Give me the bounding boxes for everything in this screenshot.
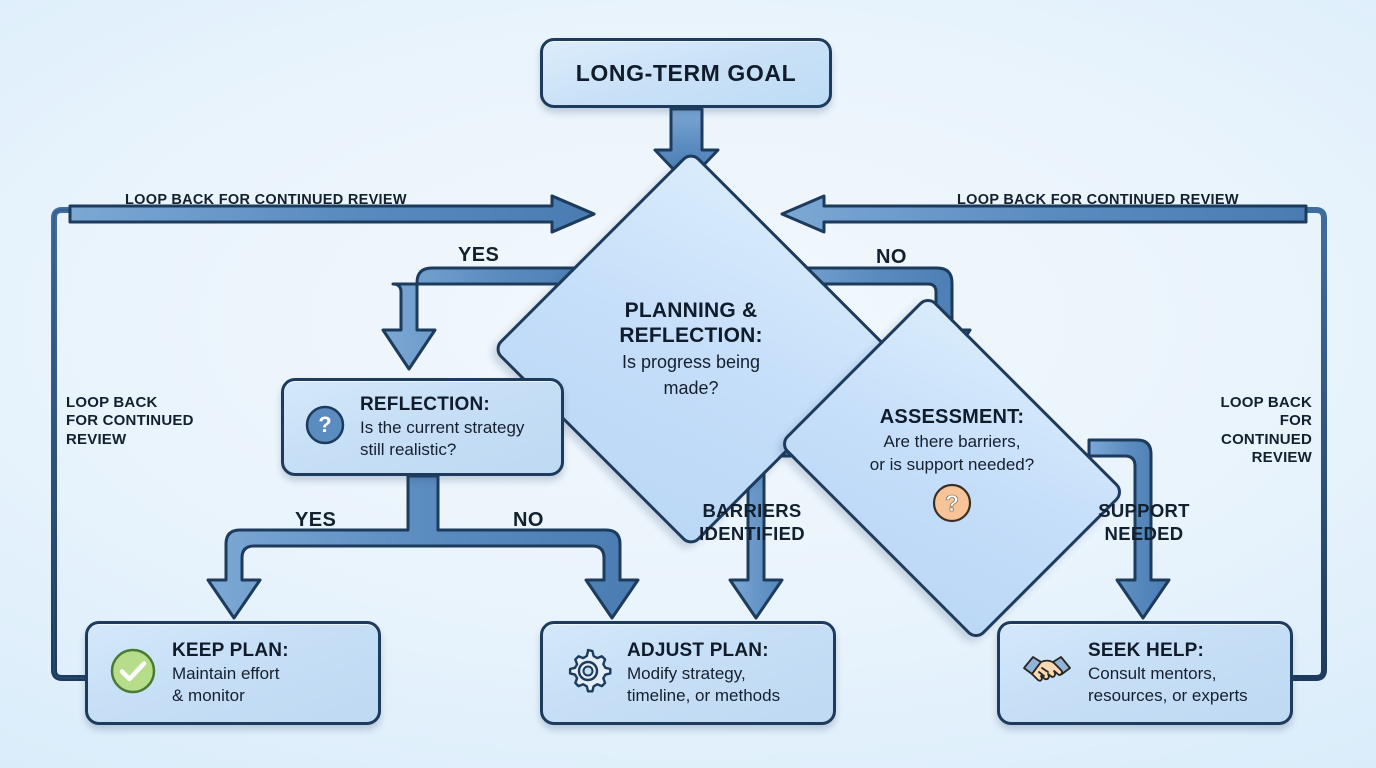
node-adjust-plan-title: ADJUST PLAN: [627, 639, 780, 663]
node-seek-help-sub-line1: Consult mentors, [1088, 663, 1248, 685]
node-assessment-sub-line2: or is support needed? [870, 454, 1034, 475]
handshake-icon [1020, 646, 1074, 701]
edge-label-yes-reflection: YES [295, 508, 336, 532]
flowchart-canvas: LONG-TERM GOAL PLANNING & REFLECTION: Is… [0, 0, 1376, 768]
node-planning-title-line2: REFLECTION: [619, 324, 762, 349]
edge-label-no-planning: NO [876, 245, 907, 269]
node-long-term-goal-title: LONG-TERM GOAL [576, 60, 797, 87]
node-assessment[interactable]: ASSESSMENT: Are there barriers, or is su… [812, 362, 1092, 574]
svg-text:?: ? [945, 490, 959, 516]
node-keep-plan[interactable]: KEEP PLAN: Maintain effort & monitor [85, 621, 381, 725]
node-keep-plan-sub-line1: Maintain effort [172, 663, 289, 685]
node-seek-help[interactable]: SEEK HELP: Consult mentors, resources, o… [997, 621, 1293, 725]
node-adjust-plan-sub-line1: Modify strategy, [627, 663, 780, 685]
node-reflection-sub-line2: still realistic? [360, 439, 524, 461]
node-seek-help-sub-line2: resources, or experts [1088, 685, 1248, 707]
edge-label-loop-back-top-left: LOOP BACK FOR CONTINUED REVIEW [125, 192, 407, 210]
node-assessment-title: ASSESSMENT: [880, 406, 1024, 429]
edge-label-loop-back-left: LOOP BACK FOR CONTINUED REVIEW [66, 394, 194, 449]
edge-reflection-split [208, 476, 638, 618]
node-seek-help-title: SEEK HELP: [1088, 639, 1248, 663]
node-planning-sub-line1: Is progress being [622, 351, 760, 373]
edge-label-loop-back-top-right: LOOP BACK FOR CONTINUED REVIEW [957, 192, 1239, 210]
node-keep-plan-title: KEEP PLAN: [172, 639, 289, 663]
node-reflection-sub-line1: Is the current strategy [360, 417, 524, 439]
check-circle-icon [108, 646, 158, 701]
gear-icon [563, 646, 613, 701]
edge-label-support-needed: SUPPORT NEEDED [1089, 500, 1199, 545]
node-reflection[interactable]: ? REFLECTION: Is the current strategy st… [281, 378, 564, 476]
edge-label-no-reflection: NO [513, 508, 544, 532]
node-keep-plan-sub-line2: & monitor [172, 685, 289, 707]
svg-text:?: ? [318, 412, 331, 437]
question-mark-circle-icon: ? [930, 481, 974, 530]
node-planning-title-line1: PLANNING & [625, 299, 758, 324]
edge-label-barriers-identified: BARRIERS IDENTIFIED [692, 500, 812, 545]
node-assessment-sub-line1: Are there barriers, [884, 431, 1021, 452]
node-adjust-plan-sub-line2: timeline, or methods [627, 685, 780, 707]
question-mark-circle-icon: ? [304, 404, 346, 451]
node-planning-sub-line2: made? [663, 377, 718, 399]
node-long-term-goal[interactable]: LONG-TERM GOAL [540, 38, 832, 108]
node-reflection-title: REFLECTION: [360, 393, 524, 417]
edge-label-loop-back-right: LOOP BACK FOR CONTINUED REVIEW [1216, 394, 1312, 467]
node-adjust-plan[interactable]: ADJUST PLAN: Modify strategy, timeline, … [540, 621, 836, 725]
edge-label-yes-planning: YES [458, 243, 499, 267]
